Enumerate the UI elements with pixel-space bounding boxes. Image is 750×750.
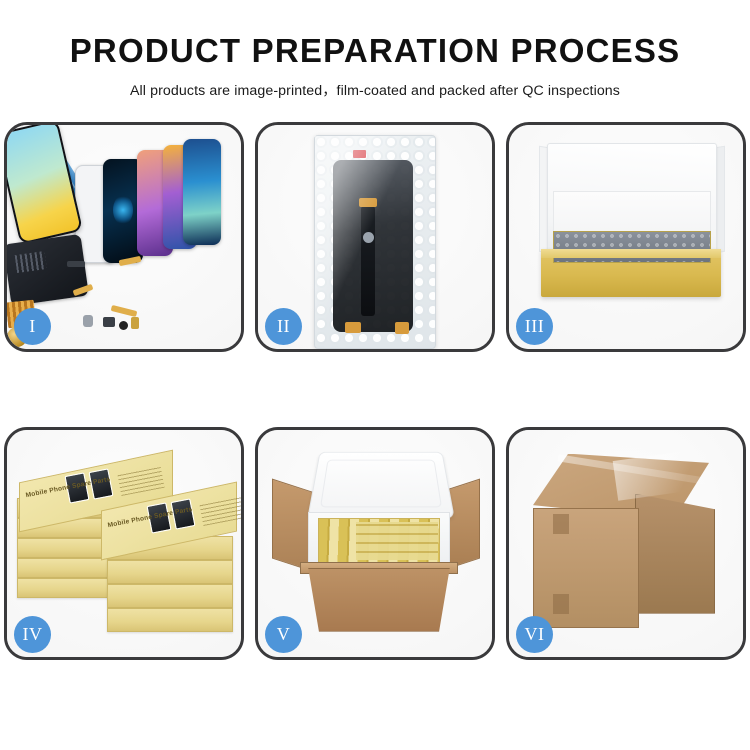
step-badge-6: VI (516, 616, 553, 653)
stacked-box-icon (17, 578, 115, 598)
carton-front-face-icon (533, 508, 639, 628)
yellow-boxes-inside-icon (356, 522, 438, 560)
tray-edge-icon (541, 249, 721, 258)
yellow-box-stack-icon: Mobile Phone Spare Parts Mobile Phone Sp… (15, 444, 235, 644)
connector-icon (359, 198, 377, 207)
vibrator-motor-icon (119, 321, 128, 330)
step-panel-2: II (255, 122, 495, 352)
phone-display-blue-icon (183, 139, 221, 245)
carton-tape-patch-icon (553, 594, 569, 614)
display-ribbon-cable-icon (361, 206, 375, 316)
carton-tape-patch-icon (553, 514, 569, 534)
page-title: PRODUCT PREPARATION PROCESS (0, 34, 750, 69)
connector-icon (395, 322, 409, 334)
page-subtitle: All products are image-printed，film-coat… (0, 80, 750, 100)
stacked-box-icon (107, 608, 233, 632)
qc-sticker-icon (353, 150, 366, 158)
repair-tweezers-icon (4, 347, 21, 352)
header: PRODUCT PREPARATION PROCESS All products… (0, 0, 750, 100)
step-badge-3: III (516, 308, 553, 345)
step-badge-1: I (14, 308, 51, 345)
step-panel-3: III (506, 122, 746, 352)
bubble-padding-icon (553, 231, 711, 263)
step-panel-4: Mobile Phone Spare Parts Mobile Phone Sp… (4, 427, 244, 660)
stacked-box-icon (107, 584, 233, 608)
connector-icon (345, 322, 361, 333)
steps-grid: I II (4, 122, 746, 660)
step-badge-5: V (265, 616, 302, 653)
speaker-mesh-icon (67, 261, 85, 267)
phone-front-large-icon (4, 122, 83, 245)
sealed-carton-icon (527, 450, 727, 636)
foam-lid-open-icon (307, 452, 454, 518)
camera-module-icon (83, 315, 93, 327)
step-badge-2: II (265, 308, 302, 345)
product-preparation-infographic: PRODUCT PREPARATION PROCESS All products… (0, 0, 750, 750)
step-badge-4: IV (14, 616, 51, 653)
step-panel-1: I (4, 122, 244, 352)
small-part-icon (103, 317, 115, 327)
yellow-box-tray-icon (541, 249, 721, 297)
battery-connector-icon (131, 317, 139, 329)
step-panel-6: VI (506, 427, 746, 660)
stacked-box-icon (107, 560, 233, 584)
carton-side-face-icon (635, 494, 715, 614)
bubble-wrap-bag-icon (314, 135, 436, 349)
stacked-box-icon (17, 558, 115, 578)
flex-cable-icon (111, 305, 138, 317)
highlight-overlay (613, 447, 718, 501)
step-panel-5: V (255, 427, 495, 660)
driver-ic-icon (363, 232, 374, 243)
carton-body-icon (302, 568, 456, 632)
